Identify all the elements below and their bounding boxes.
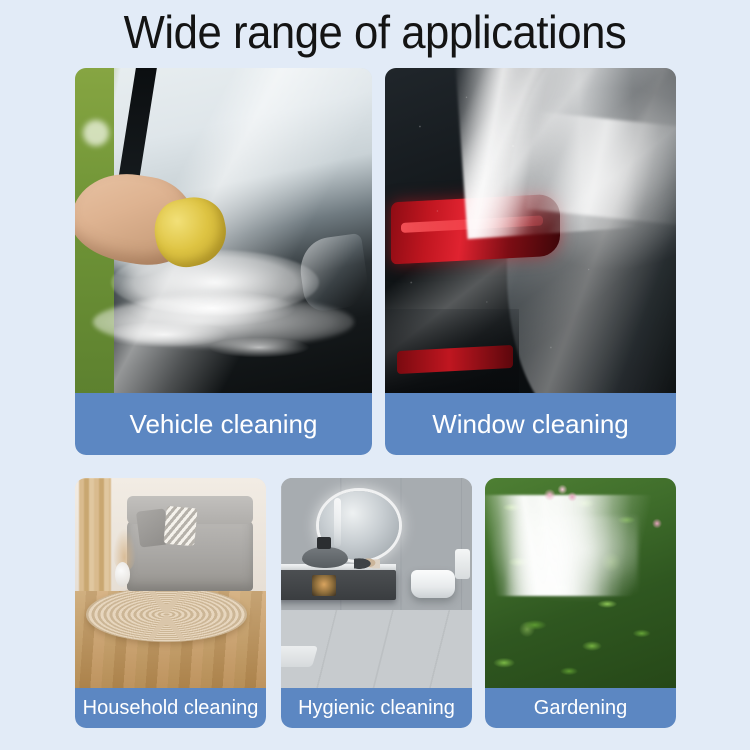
caption-label-gardening: Gardening [534, 697, 627, 720]
photo-window-cleaning [385, 68, 676, 393]
photo-hygienic-cleaning [281, 478, 472, 688]
water-fan-spray [485, 495, 676, 596]
wash-basin [302, 547, 348, 568]
photo-household-cleaning [75, 478, 266, 688]
counter-decor [354, 554, 381, 571]
tile-vehicle-cleaning[interactable]: Vehicle cleaning [75, 68, 372, 455]
page-title: Wide range of applications [19, 9, 732, 55]
tile-hygienic-cleaning[interactable]: Hygienic cleaning [281, 478, 472, 728]
car-headlamp [296, 233, 371, 313]
vanity-niche-light [312, 575, 337, 596]
caption-label-vehicle-cleaning: Vehicle cleaning [130, 409, 318, 440]
photo-vehicle-cleaning [75, 68, 372, 393]
caption-bar-gardening: Gardening [485, 688, 676, 728]
caption-bar-household-cleaning: Household cleaning [75, 688, 266, 728]
caption-label-hygienic-cleaning: Hygienic cleaning [298, 697, 455, 720]
caption-bar-window-cleaning: Window cleaning [385, 393, 676, 455]
water-droplets [385, 68, 676, 393]
cushion-patterned [163, 506, 197, 546]
faucet [317, 537, 330, 550]
floating-vanity [281, 570, 396, 599]
application-showcase-page: Wide range of applications Vehicle clean… [0, 0, 750, 750]
round-rug [86, 587, 246, 642]
hanging-towel [455, 549, 470, 578]
tile-household-cleaning[interactable]: Household cleaning [75, 478, 266, 728]
tile-window-cleaning[interactable]: Window cleaning [385, 68, 676, 455]
tile-gardening[interactable]: Gardening [485, 478, 676, 728]
caption-label-household-cleaning: Household cleaning [83, 697, 259, 720]
photo-gardening [485, 478, 676, 688]
window-curtain [79, 478, 111, 600]
caption-bar-vehicle-cleaning: Vehicle cleaning [75, 393, 372, 455]
wall-hung-toilet [411, 570, 455, 597]
caption-bar-hygienic-cleaning: Hygienic cleaning [281, 688, 472, 728]
pink-blossom-side [642, 512, 673, 535]
pink-blossoms [535, 480, 585, 507]
caption-label-window-cleaning: Window cleaning [432, 409, 629, 440]
bath-mat [281, 646, 318, 667]
